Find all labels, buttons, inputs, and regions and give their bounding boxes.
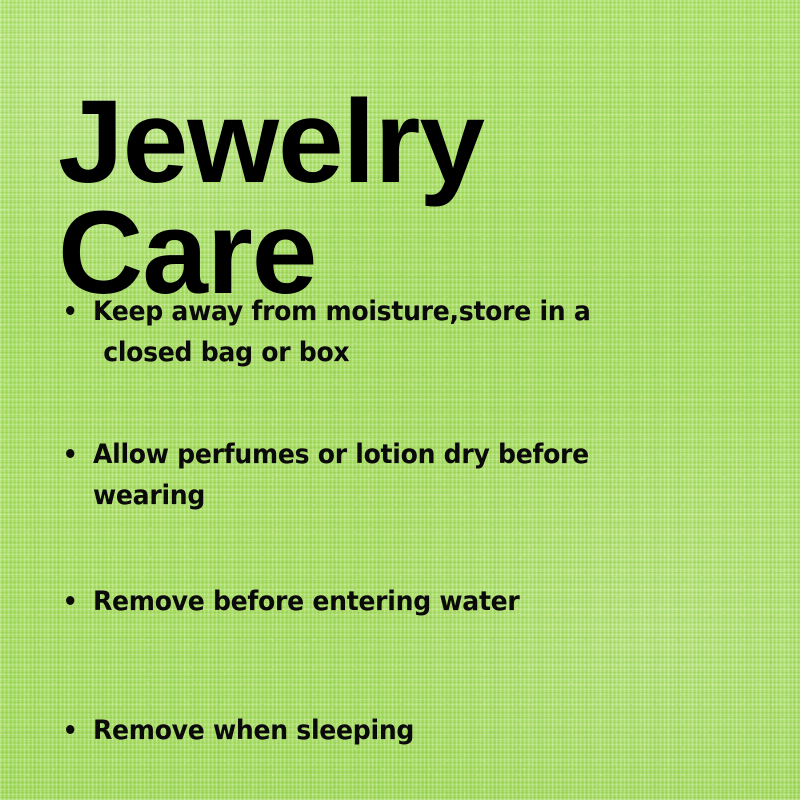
list-item-line-2: closed bag or box — [93, 333, 707, 374]
bullet-dot-icon — [66, 725, 74, 734]
list-item: Allow perfumes or lotion dry before wear… — [0, 435, 744, 516]
bullet-dot-icon — [66, 306, 74, 315]
bullet-dot-icon — [66, 449, 74, 458]
list-item: Remove before entering water — [0, 582, 744, 623]
poster-content: Jewelry Care Keep away from moisture,sto… — [0, 0, 800, 800]
jewelry-care-poster: Jewelry Care Keep away from moisture,sto… — [0, 0, 800, 800]
list-item-label: Remove when sleeping — [93, 711, 707, 752]
care-instructions-list: Keep away from moisture,store in aclosed… — [0, 292, 800, 751]
list-item-label: Keep away from moisture,store in aclosed… — [93, 292, 707, 373]
list-item-line-1: Keep away from moisture,store in a — [93, 296, 591, 327]
bullet-dot-icon — [66, 596, 74, 605]
list-item: Remove when sleeping — [0, 711, 744, 752]
page-title: Jewelry Care — [58, 87, 758, 309]
list-item: Keep away from moisture,store in aclosed… — [0, 292, 744, 373]
list-item-label: Allow perfumes or lotion dry before wear… — [93, 435, 707, 516]
list-item-label: Remove before entering water — [93, 582, 707, 623]
